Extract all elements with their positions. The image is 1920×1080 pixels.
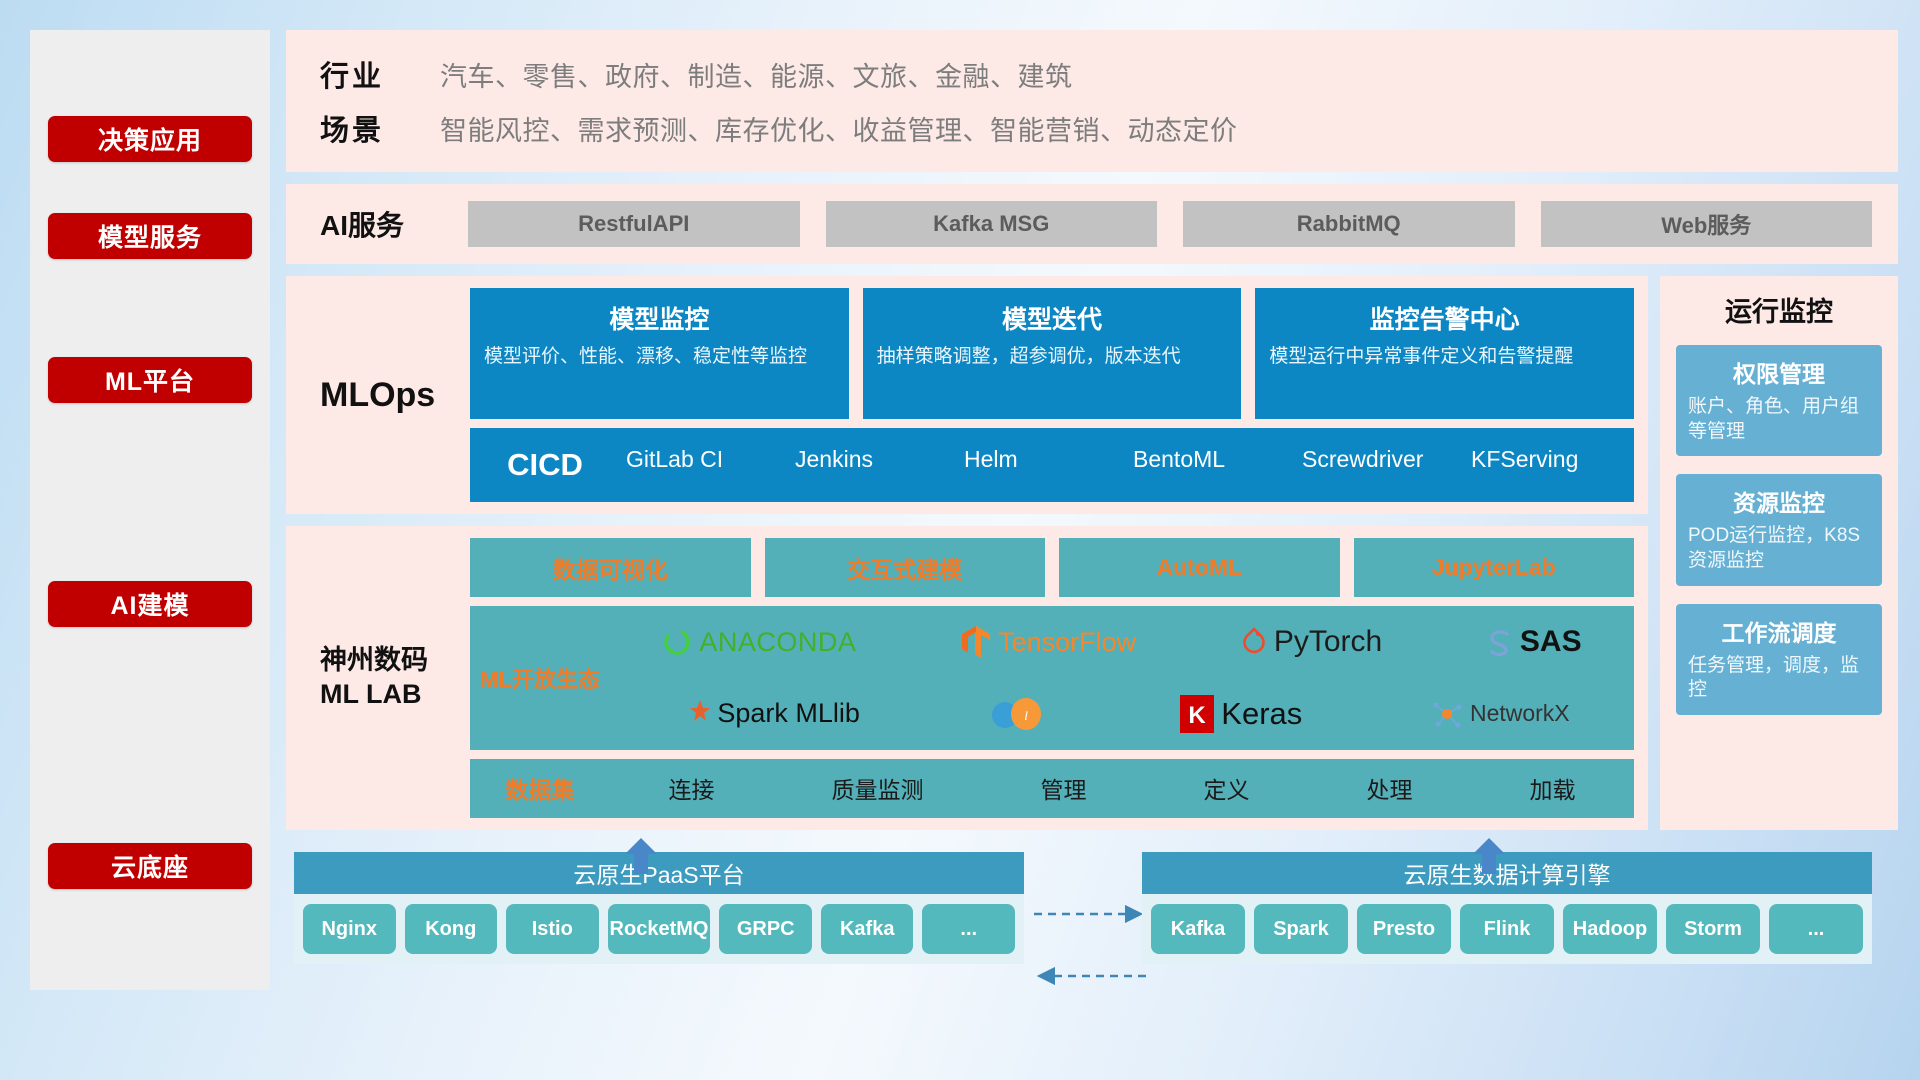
paas-chip-rocketmq[interactable]: RocketMQ (608, 904, 711, 954)
scenario-label: 场景 (320, 107, 440, 149)
ml-ecosystem-row-2: Spark MLlib l scikit-learn (610, 678, 1634, 750)
mlops-card-model-monitoring[interactable]: 模型监控 模型评价、性能、漂移、稳定性等监控 (470, 288, 849, 419)
engine-chip-hadoop[interactable]: Hadoop (1563, 904, 1657, 954)
paas-chip-istio[interactable]: Istio (506, 904, 599, 954)
scikit-learn-logo: l scikit-learn (989, 697, 1052, 731)
ai-service-button-restful[interactable]: RestfulAPI (468, 201, 800, 247)
engine-up-arrow (1472, 838, 1506, 872)
mlops-band: MLOps 模型监控 模型评价、性能、漂移、稳定性等监控 模型迭代 抽样策略调整… (286, 276, 1648, 514)
card-desc: 模型运行中异常事件定义和告警提醒 (1269, 344, 1620, 369)
cicd-item-bentoml[interactable]: BentoML (1127, 446, 1296, 502)
paas-chip-nginx[interactable]: Nginx (303, 904, 396, 954)
dataset-item-manage[interactable]: 管理 (1041, 771, 1087, 805)
ml-lab-label: 神州数码 ML LAB (320, 538, 470, 818)
tensorflow-logo: TensorFlow (961, 625, 1136, 659)
spacer (286, 514, 1648, 526)
sas-icon (1487, 628, 1513, 656)
rail-label: ML平台 (105, 362, 195, 398)
data-engine-title: 云原生数据计算引擎 (1142, 852, 1872, 894)
cicd-item-list: GitLab CI Jenkins Helm BentoML Screwdriv… (620, 428, 1634, 502)
industry-label: 行业 (320, 53, 440, 95)
card-title: 模型监控 (484, 300, 835, 336)
spark-icon (674, 699, 710, 729)
tab-interactive-modeling[interactable]: 交互式建模 (765, 538, 1046, 597)
platform-middle: MLOps 模型监控 模型评价、性能、漂移、稳定性等监控 模型迭代 抽样策略调整… (286, 276, 1898, 830)
sas-logo-text: SAS (1520, 625, 1582, 659)
cicd-item-screwdriver[interactable]: Screwdriver (1296, 446, 1465, 502)
cicd-item-jenkins[interactable]: Jenkins (789, 446, 958, 502)
decision-applications-band: 行业 汽车、零售、政府、制造、能源、文旅、金融、建筑 场景 智能风控、需求预测、… (286, 30, 1898, 172)
card-desc: 账户、角色、用户组等管理 (1688, 395, 1870, 444)
layer-rail: 决策应用 模型服务 ML平台 AI建模 云底座 (30, 30, 270, 990)
industry-line: 行业 汽车、零售、政府、制造、能源、文旅、金融、建筑 (320, 47, 1868, 101)
paas-platform-title: 云原生PaaS平台 (294, 852, 1024, 894)
ml-ecosystem-logos: ANACONDA TensorFlow (610, 606, 1634, 749)
card-title: 权限管理 (1688, 355, 1870, 389)
tab-data-visualization[interactable]: 数据可视化 (470, 538, 751, 597)
mlops-card-alert-center[interactable]: 监控告警中心 模型运行中异常事件定义和告警提醒 (1255, 288, 1634, 419)
dataset-item-process[interactable]: 处理 (1367, 771, 1413, 805)
dashed-arrows-icon (1030, 894, 1150, 1004)
rail-label: 云底座 (111, 848, 189, 884)
tab-jupyterlab[interactable]: JupyterLab (1354, 538, 1635, 597)
svg-text:K: K (1189, 702, 1207, 729)
card-desc: 任务管理，调度，监控 (1688, 654, 1870, 703)
rail-item-model-service[interactable]: 模型服务 (48, 213, 252, 259)
spacer (286, 172, 1898, 184)
platform-left: MLOps 模型监控 模型评价、性能、漂移、稳定性等监控 模型迭代 抽样策略调整… (286, 276, 1648, 830)
dataset-item-connect[interactable]: 连接 (669, 771, 715, 805)
paas-chip-grpc[interactable]: GRPC (719, 904, 812, 954)
paas-engine-connector (1030, 894, 1150, 1004)
anaconda-icon (662, 627, 692, 657)
tensorflow-logo-text: TensorFlow (998, 627, 1136, 658)
engine-chip-flink[interactable]: Flink (1460, 904, 1554, 954)
ai-service-button-rabbitmq[interactable]: RabbitMQ (1183, 201, 1515, 247)
anaconda-logo: ANACONDA (662, 627, 856, 658)
architecture-diagram: 决策应用 模型服务 ML平台 AI建模 云底座 行业 汽车、零售、政府、制造、能… (0, 0, 1920, 1080)
svg-text:l: l (1024, 708, 1028, 723)
rail-item-cloud-base[interactable]: 云底座 (48, 843, 252, 889)
card-title: 监控告警中心 (1269, 300, 1620, 336)
ml-lab-tabs: 数据可视化 交互式建模 AutoML JupyterLab (470, 538, 1634, 597)
paas-chip-kafka[interactable]: Kafka (821, 904, 914, 954)
paas-up-arrow (624, 838, 658, 872)
keras-logo: K Keras (1180, 695, 1302, 733)
engine-chip-presto[interactable]: Presto (1357, 904, 1451, 954)
cloud-base-row: 云原生PaaS平台 Nginx Kong Istio RocketMQ GRPC… (286, 830, 1898, 1040)
scikit-learn-icon: l (989, 697, 1045, 731)
scenario-line: 场景 智能风控、需求预测、库存优化、收益管理、智能营销、动态定价 (320, 101, 1868, 155)
arrow-up-icon (1472, 838, 1506, 874)
cicd-item-gitlab-ci[interactable]: GitLab CI (620, 446, 789, 502)
ml-ecosystem-panel: ML开放生态 ANACONDA (470, 606, 1634, 749)
card-desc: 模型评价、性能、漂移、稳定性等监控 (484, 344, 835, 369)
networkx-logo-text: NetworkX (1470, 700, 1570, 727)
spacer (286, 264, 1898, 276)
ml-ecosystem-row-1: ANACONDA TensorFlow (610, 606, 1634, 678)
industry-values: 汽车、零售、政府、制造、能源、文旅、金融、建筑 (440, 55, 1073, 94)
dataset-item-load[interactable]: 加载 (1530, 771, 1576, 805)
mlops-card-model-iteration[interactable]: 模型迭代 抽样策略调整，超参调优，版本迭代 (863, 288, 1242, 419)
mlops-card-list: 模型监控 模型评价、性能、漂移、稳定性等监控 模型迭代 抽样策略调整，超参调优，… (470, 288, 1634, 419)
data-engine-group: 云原生数据计算引擎 Kafka Spark Presto Flink Hadoo… (1142, 852, 1872, 1040)
paas-platform-group: 云原生PaaS平台 Nginx Kong Istio RocketMQ GRPC… (294, 852, 1024, 1040)
spark-mllib-logo-text: Spark MLlib (717, 698, 860, 729)
pytorch-logo-text: PyTorch (1274, 625, 1382, 659)
rail-label: AI建模 (110, 586, 189, 622)
paas-chip-kong[interactable]: Kong (405, 904, 498, 954)
ml-lab-content: 数据可视化 交互式建模 AutoML JupyterLab ML开放生态 (470, 538, 1634, 818)
ml-ecosystem-label: ML开放生态 (470, 662, 610, 694)
cicd-bar: CICD GitLab CI Jenkins Helm BentoML Scre… (470, 428, 1634, 502)
card-title: 模型迭代 (877, 300, 1228, 336)
monitor-card-permission[interactable]: 权限管理 账户、角色、用户组等管理 (1676, 345, 1882, 456)
cicd-item-helm[interactable]: Helm (958, 446, 1127, 502)
spark-mllib-logo: Spark MLlib (674, 698, 860, 729)
card-desc: POD运行监控，K8S资源监控 (1688, 524, 1870, 573)
engine-chip-list: Kafka Spark Presto Flink Hadoop Storm ..… (1142, 894, 1872, 964)
keras-logo-text: Keras (1221, 696, 1302, 732)
paas-chip-more[interactable]: ... (922, 904, 1015, 954)
dataset-label: 数据集 (470, 771, 610, 805)
dataset-item-define[interactable]: 定义 (1204, 771, 1250, 805)
paas-chip-list: Nginx Kong Istio RocketMQ GRPC Kafka ... (294, 894, 1024, 964)
run-monitoring-title: 运行监控 (1676, 290, 1882, 329)
networkx-logo: NetworkX (1431, 698, 1570, 730)
engine-chip-kafka[interactable]: Kafka (1151, 904, 1245, 954)
pytorch-icon (1241, 627, 1267, 657)
engine-chip-storm[interactable]: Storm (1666, 904, 1760, 954)
monitor-card-resource[interactable]: 资源监控 POD运行监控，K8S资源监控 (1676, 474, 1882, 585)
engine-chip-spark[interactable]: Spark (1254, 904, 1348, 954)
dataset-item-list: 连接 质量监测 管理 定义 处理 加载 (610, 771, 1634, 805)
ai-service-band: AI服务 RestfulAPI Kafka MSG RabbitMQ Web服务 (286, 184, 1898, 264)
ml-lab-band: 神州数码 ML LAB 数据可视化 交互式建模 AutoML JupyterLa… (286, 526, 1648, 830)
rail-item-ai-modeling[interactable]: AI建模 (48, 581, 252, 627)
ml-lab-label-line1: 神州数码 (320, 644, 470, 678)
cicd-label: CICD (470, 447, 620, 483)
ml-lab-label-line2: ML LAB (320, 678, 470, 712)
run-monitoring-panel: 运行监控 权限管理 账户、角色、用户组等管理 资源监控 POD运行监控，K8S资… (1660, 276, 1898, 830)
tensorflow-icon (961, 625, 991, 659)
card-title: 工作流调度 (1688, 614, 1870, 648)
keras-icon: K (1180, 695, 1214, 733)
ai-service-button-kafka[interactable]: Kafka MSG (826, 201, 1158, 247)
mlops-label: MLOps (320, 288, 470, 502)
tab-automl[interactable]: AutoML (1059, 538, 1340, 597)
ai-service-buttons: RestfulAPI Kafka MSG RabbitMQ Web服务 (448, 201, 1872, 247)
arrow-up-icon (624, 838, 658, 874)
card-title: 资源监控 (1688, 484, 1870, 518)
rail-item-decision-app[interactable]: 决策应用 (48, 116, 252, 162)
networkx-icon (1431, 698, 1463, 730)
ai-service-label: AI服务 (320, 204, 448, 244)
dataset-bar: 数据集 连接 质量监测 管理 定义 处理 加载 (470, 759, 1634, 818)
monitor-card-workflow[interactable]: 工作流调度 任务管理，调度，监控 (1676, 604, 1882, 715)
rail-label: 模型服务 (98, 218, 202, 254)
mlops-content: 模型监控 模型评价、性能、漂移、稳定性等监控 模型迭代 抽样策略调整，超参调优，… (470, 288, 1634, 502)
engine-chip-more[interactable]: ... (1769, 904, 1863, 954)
pytorch-logo: PyTorch (1241, 625, 1382, 659)
ai-service-button-web[interactable]: Web服务 (1541, 201, 1873, 247)
rail-label: 决策应用 (98, 121, 202, 157)
main-column: 行业 汽车、零售、政府、制造、能源、文旅、金融、建筑 场景 智能风控、需求预测、… (286, 30, 1898, 1040)
rail-item-ml-platform[interactable]: ML平台 (48, 357, 252, 403)
anaconda-logo-text: ANACONDA (699, 627, 856, 658)
dataset-item-quality[interactable]: 质量监测 (832, 771, 924, 805)
sas-logo: SAS (1487, 625, 1582, 659)
card-desc: 抽样策略调整，超参调优，版本迭代 (877, 344, 1228, 369)
cicd-item-kfserving[interactable]: KFServing (1465, 446, 1634, 502)
scenario-values: 智能风控、需求预测、库存优化、收益管理、智能营销、动态定价 (440, 109, 1238, 148)
